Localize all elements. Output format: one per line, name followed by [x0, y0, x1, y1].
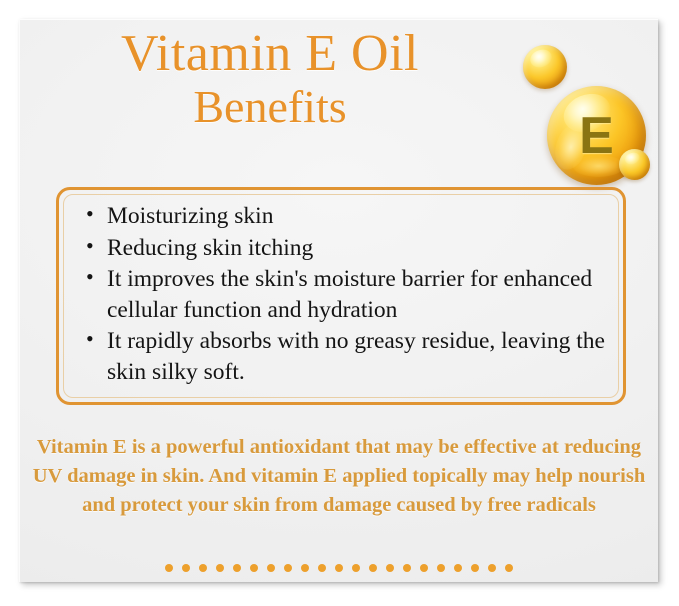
- poster-card: Vitamin E Oil Benefits E Moisturizing sk…: [19, 19, 658, 582]
- divider-dot: [420, 564, 428, 572]
- droplet-highlight: [528, 47, 554, 70]
- divider-dot: [437, 564, 445, 572]
- oil-droplet-small-bottom-icon: [619, 149, 650, 180]
- divider-dot: [488, 564, 496, 572]
- list-item: It rapidly absorbs with no greasy residu…: [107, 326, 613, 387]
- divider-dot: [301, 564, 309, 572]
- benefits-list: Moisturizing skin Reducing skin itching …: [73, 201, 613, 388]
- divider-dot: [454, 564, 462, 572]
- divider-dot: [386, 564, 394, 572]
- divider-dot: [369, 564, 377, 572]
- list-item: Moisturizing skin: [107, 201, 613, 232]
- divider-dot: [182, 564, 190, 572]
- footer-description: Vitamin E is a powerful antioxidant that…: [32, 433, 646, 520]
- divider-dot: [284, 564, 292, 572]
- dotted-divider: [20, 564, 658, 572]
- divider-dot: [505, 564, 513, 572]
- oil-droplet-small-top-icon: [523, 45, 567, 89]
- divider-dot: [403, 564, 411, 572]
- benefits-box: Moisturizing skin Reducing skin itching …: [56, 187, 626, 405]
- vitamin-e-capsule-illustration: E: [498, 20, 658, 200]
- title-line-1: Vitamin E Oil: [20, 28, 520, 80]
- divider-dot: [471, 564, 479, 572]
- divider-dot: [199, 564, 207, 572]
- divider-dot: [216, 564, 224, 572]
- poster-root: Vitamin E Oil Benefits E Moisturizing sk…: [0, 0, 679, 606]
- list-item: Reducing skin itching: [107, 233, 613, 264]
- divider-dot: [267, 564, 275, 572]
- title-line-2: Benefits: [20, 84, 520, 130]
- divider-dot: [165, 564, 173, 572]
- divider-dot: [233, 564, 241, 572]
- page-title: Vitamin E Oil Benefits: [20, 28, 520, 130]
- divider-dot: [318, 564, 326, 572]
- droplet-highlight: [623, 151, 641, 167]
- divider-dot: [250, 564, 258, 572]
- divider-dot: [352, 564, 360, 572]
- list-item: It improves the skin's moisture barrier …: [107, 264, 613, 325]
- divider-dot: [335, 564, 343, 572]
